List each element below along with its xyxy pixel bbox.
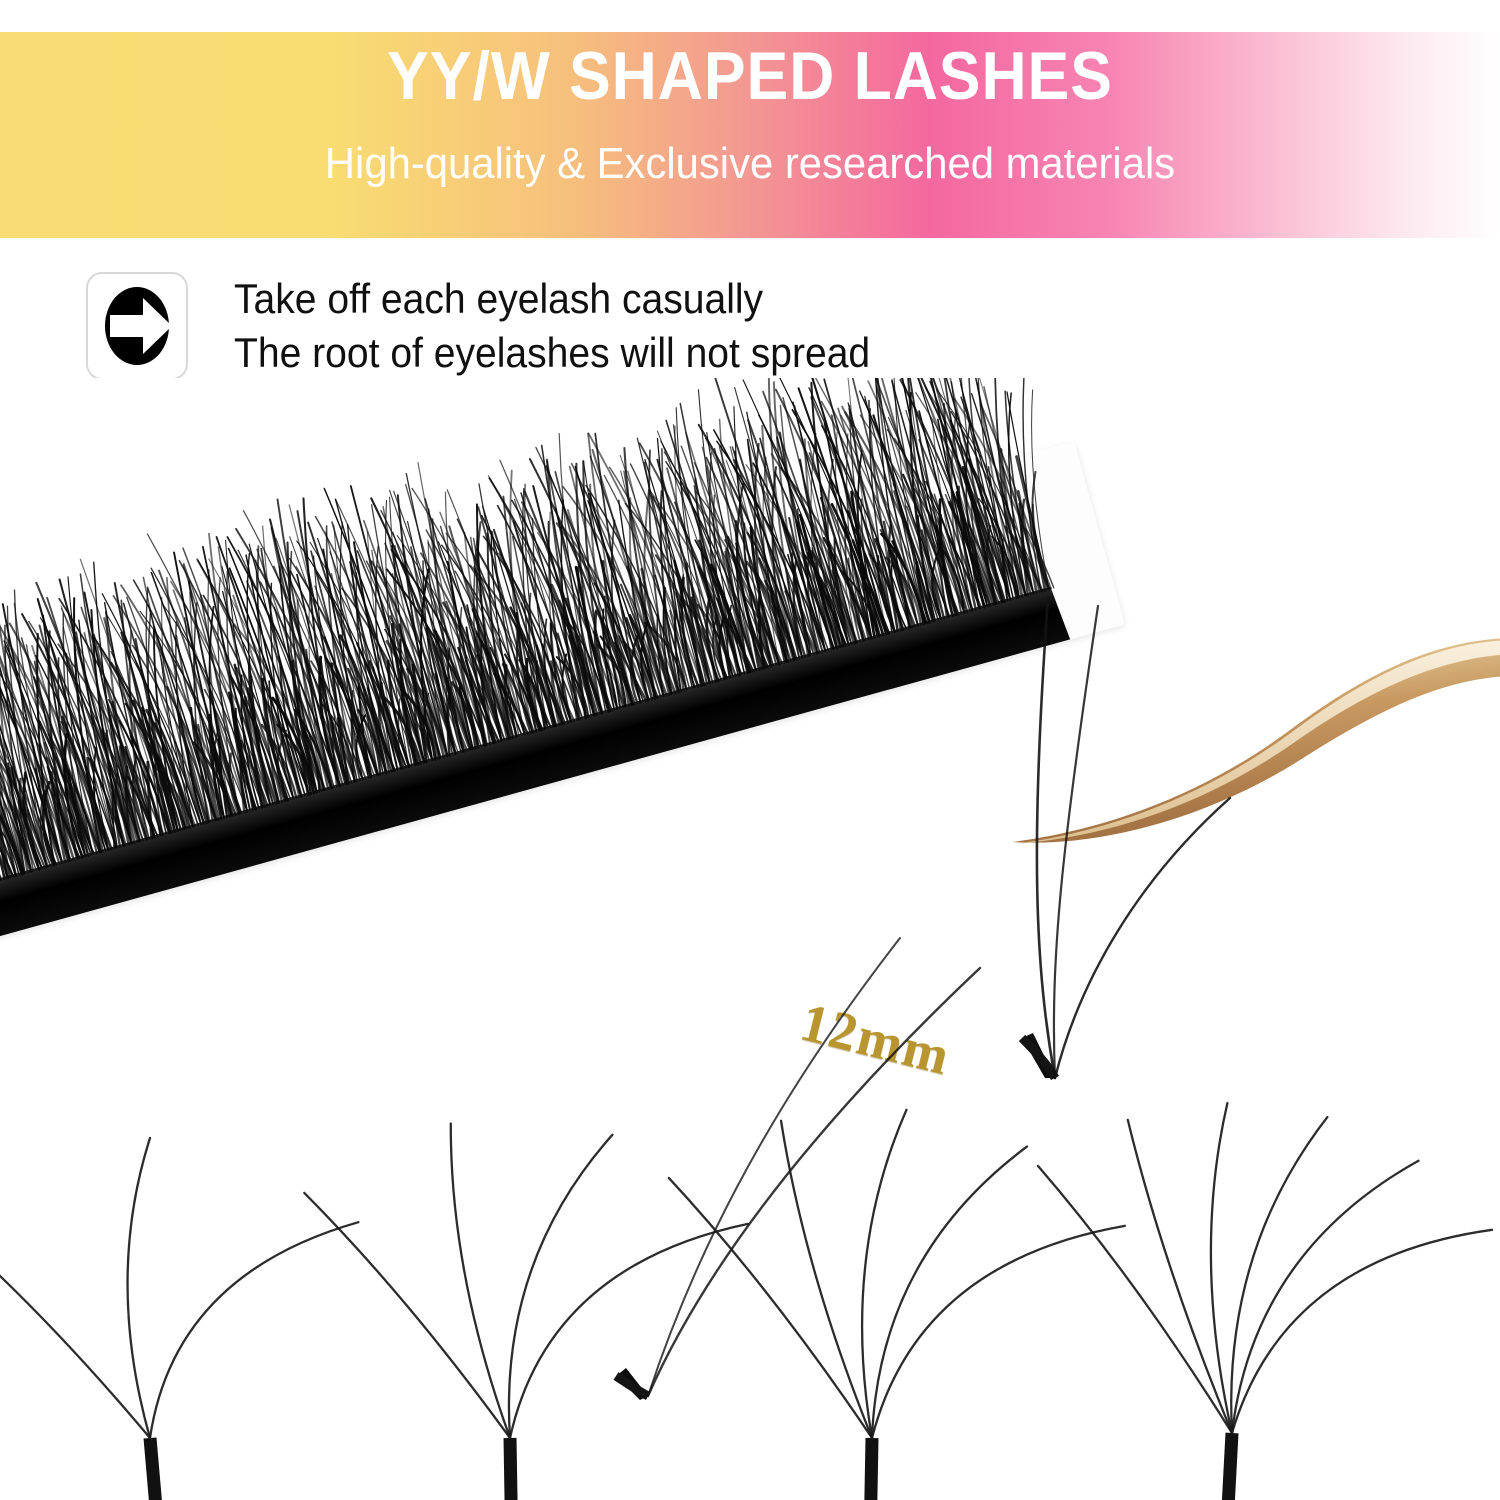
instruction-icon-box	[86, 272, 188, 380]
yy-fan-3-branch	[0, 1094, 418, 1500]
instruction-line-1: Take off each eyelash casually	[234, 272, 870, 326]
instruction-line-2: The root of eyelashes will not spread	[234, 326, 870, 380]
w-fan-4-branch	[297, 1076, 793, 1500]
lash-illustration	[0, 378, 1500, 1500]
instruction-text: Take off each eyelash casually The root …	[234, 272, 870, 380]
instruction-block: Take off each eyelash casually The root …	[86, 272, 918, 380]
w-fan-6-branch	[1034, 1077, 1500, 1500]
product-photo: 12mm	[0, 378, 1500, 1500]
w-fan-5-branch	[663, 1075, 1161, 1500]
page-title: YY/W SHAPED LASHES	[60, 42, 1440, 110]
header-banner: YY/W SHAPED LASHES High-quality & Exclus…	[0, 32, 1500, 238]
circle-right-arrow-icon	[98, 284, 176, 368]
page-subtitle: High-quality & Exclusive researched mate…	[38, 142, 1463, 186]
tweezer	[1012, 638, 1500, 844]
